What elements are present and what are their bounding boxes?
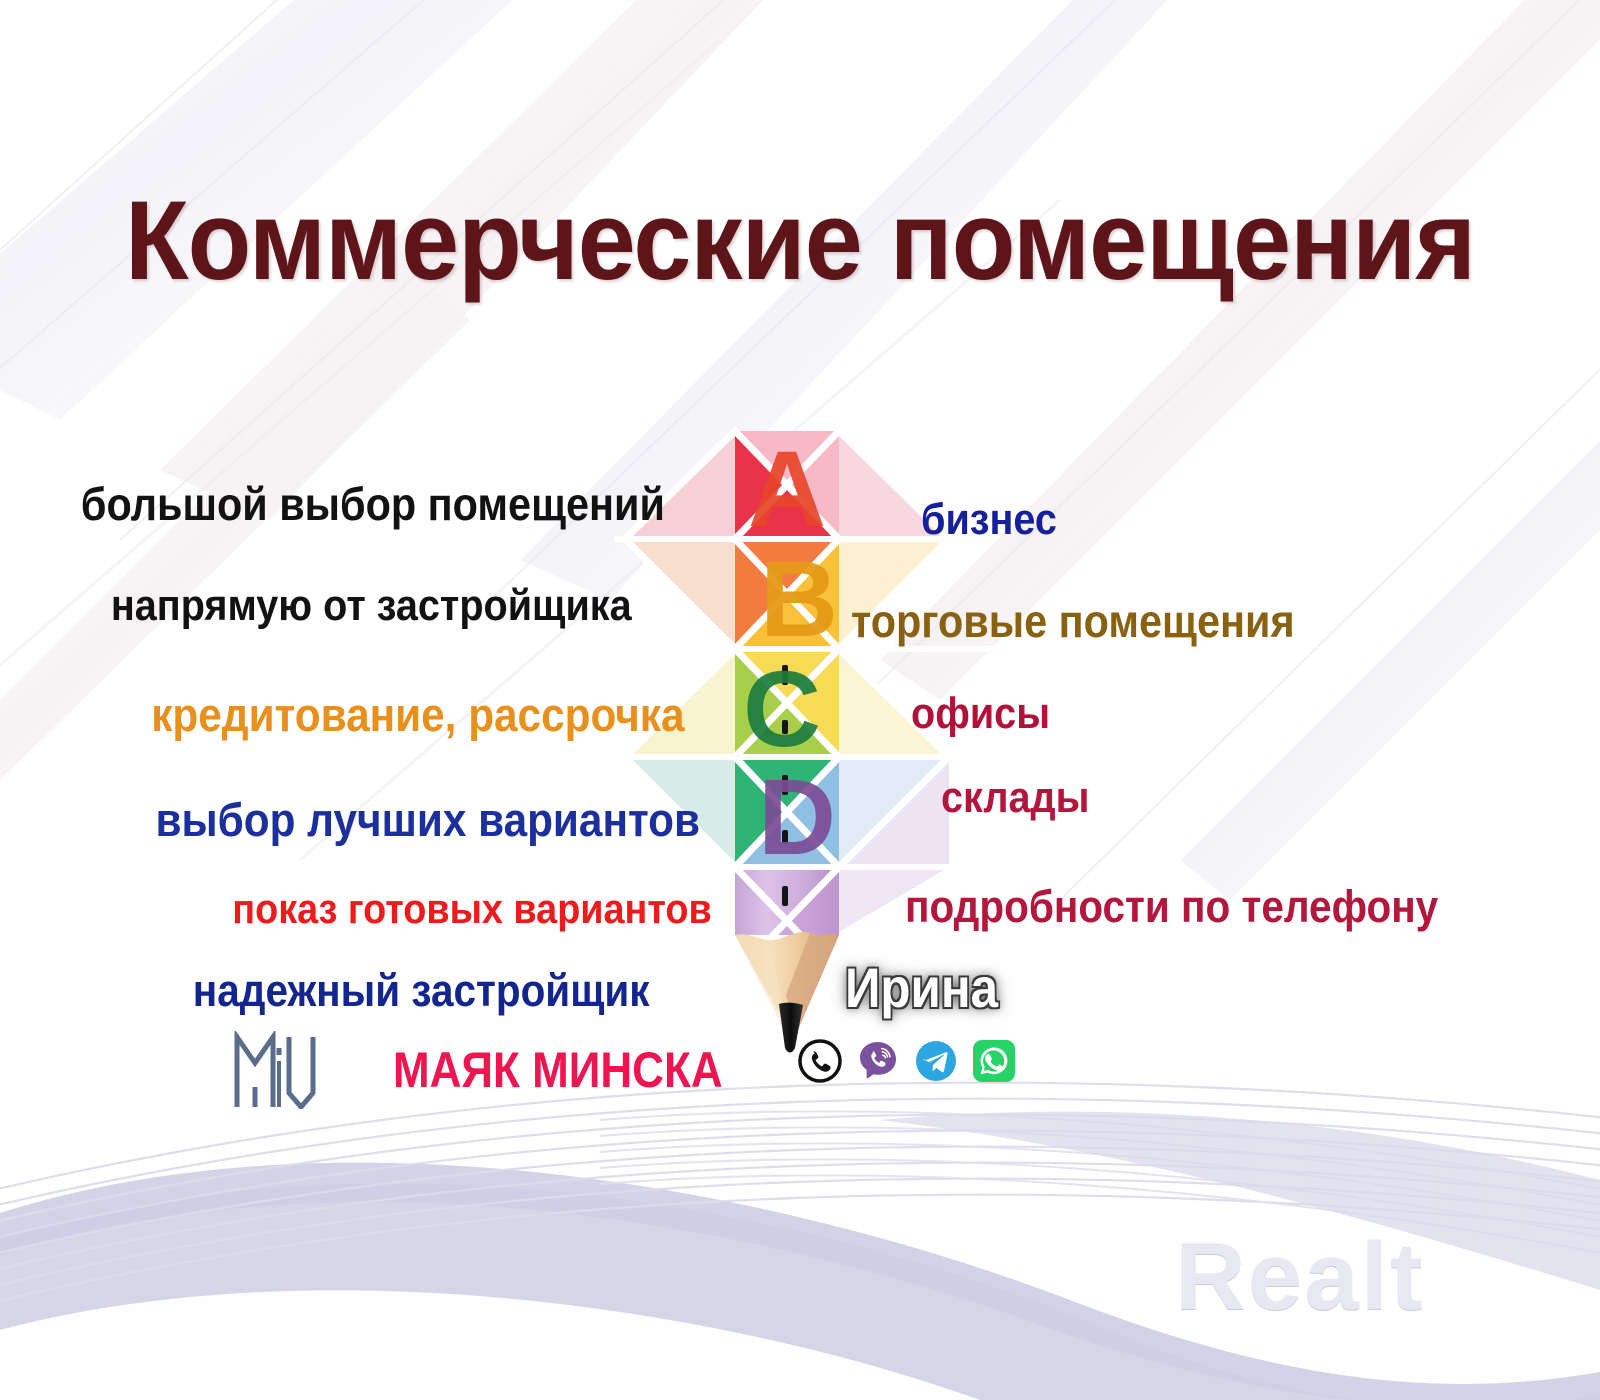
agent-name: Ирина xyxy=(845,955,998,1020)
feature-left-2: кредитование, рассрочка xyxy=(151,691,684,738)
whatsapp-icon[interactable] xyxy=(972,1039,1016,1083)
feature-right-0: бизнес xyxy=(921,498,1057,542)
realt-watermark: Realt xyxy=(1175,1222,1425,1332)
developer-logo-mw xyxy=(231,1031,325,1109)
feature-right-3: склады xyxy=(941,776,1089,820)
feature-left-1: напрямую от застройщика xyxy=(111,584,632,628)
feature-left-5: надежный застройщик xyxy=(193,968,650,1013)
feature-right-4: подробности по телефону xyxy=(905,884,1438,929)
feature-right-1: торговые помещения xyxy=(851,598,1295,644)
feature-left-3: выбор лучших вариантов xyxy=(155,796,700,843)
feature-left-0: большой выбор помещений xyxy=(81,481,665,527)
phone-icon[interactable] xyxy=(798,1039,842,1083)
slide-canvas: Коммерческие помещения xyxy=(0,0,1600,1400)
pencil-letter-b: B xyxy=(760,538,838,659)
feature-left-4: показ готовых вариантов xyxy=(233,888,712,930)
contact-icons xyxy=(798,1039,1016,1083)
pencil-letters: A B C D xyxy=(743,428,838,877)
pencil-letter-a: A xyxy=(748,428,826,549)
feature-right-2: офисы xyxy=(911,692,1050,736)
pencil-letter-d: D xyxy=(758,756,836,877)
telegram-icon[interactable] xyxy=(914,1039,958,1083)
pencil-tip xyxy=(735,932,839,1053)
pencil-letter-c: C xyxy=(743,648,821,769)
viber-icon[interactable] xyxy=(856,1039,900,1083)
developer-name: МАЯК МИНСКА xyxy=(393,1041,723,1099)
page-title: Коммерческие помещения xyxy=(56,182,1544,300)
